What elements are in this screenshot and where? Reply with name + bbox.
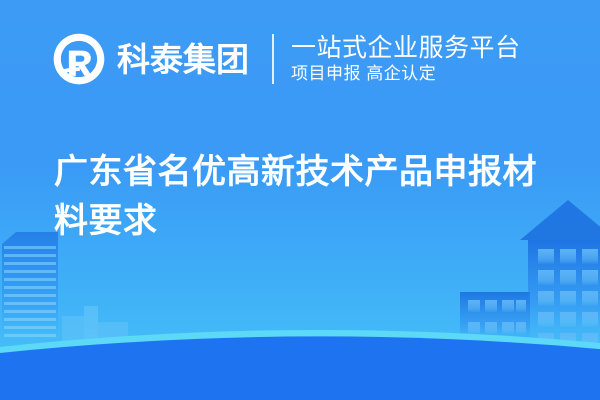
- brand-name: 科泰集团: [117, 43, 249, 76]
- slogan-block: 一站式企业服务平台 项目申报 高企认定: [291, 35, 521, 84]
- page-title: 广东省名优高新技术产品申报材料要求: [54, 148, 564, 246]
- skyscraper-silhouette: [2, 232, 58, 348]
- brand-lockup: 科泰集团: [52, 32, 249, 86]
- bottom-wave-shape: [0, 330, 600, 400]
- low-building-silhouette: [62, 306, 128, 350]
- ketai-circle-logo-icon: [52, 32, 106, 86]
- title-block: 广东省名优高新技术产品申报材料要求: [54, 148, 564, 246]
- banner-image: 科泰集团 一站式企业服务平台 项目申报 高企认定 广东省名优高新技术产品申报材料…: [0, 0, 600, 400]
- slogan-sub: 项目申报 高企认定: [291, 65, 521, 84]
- header-divider: [272, 34, 274, 84]
- banner-header: 科泰集团 一站式企业服务平台 项目申报 高企认定: [0, 0, 600, 118]
- short-building-silhouette: [460, 292, 530, 348]
- slogan-main: 一站式企业服务平台: [291, 35, 521, 62]
